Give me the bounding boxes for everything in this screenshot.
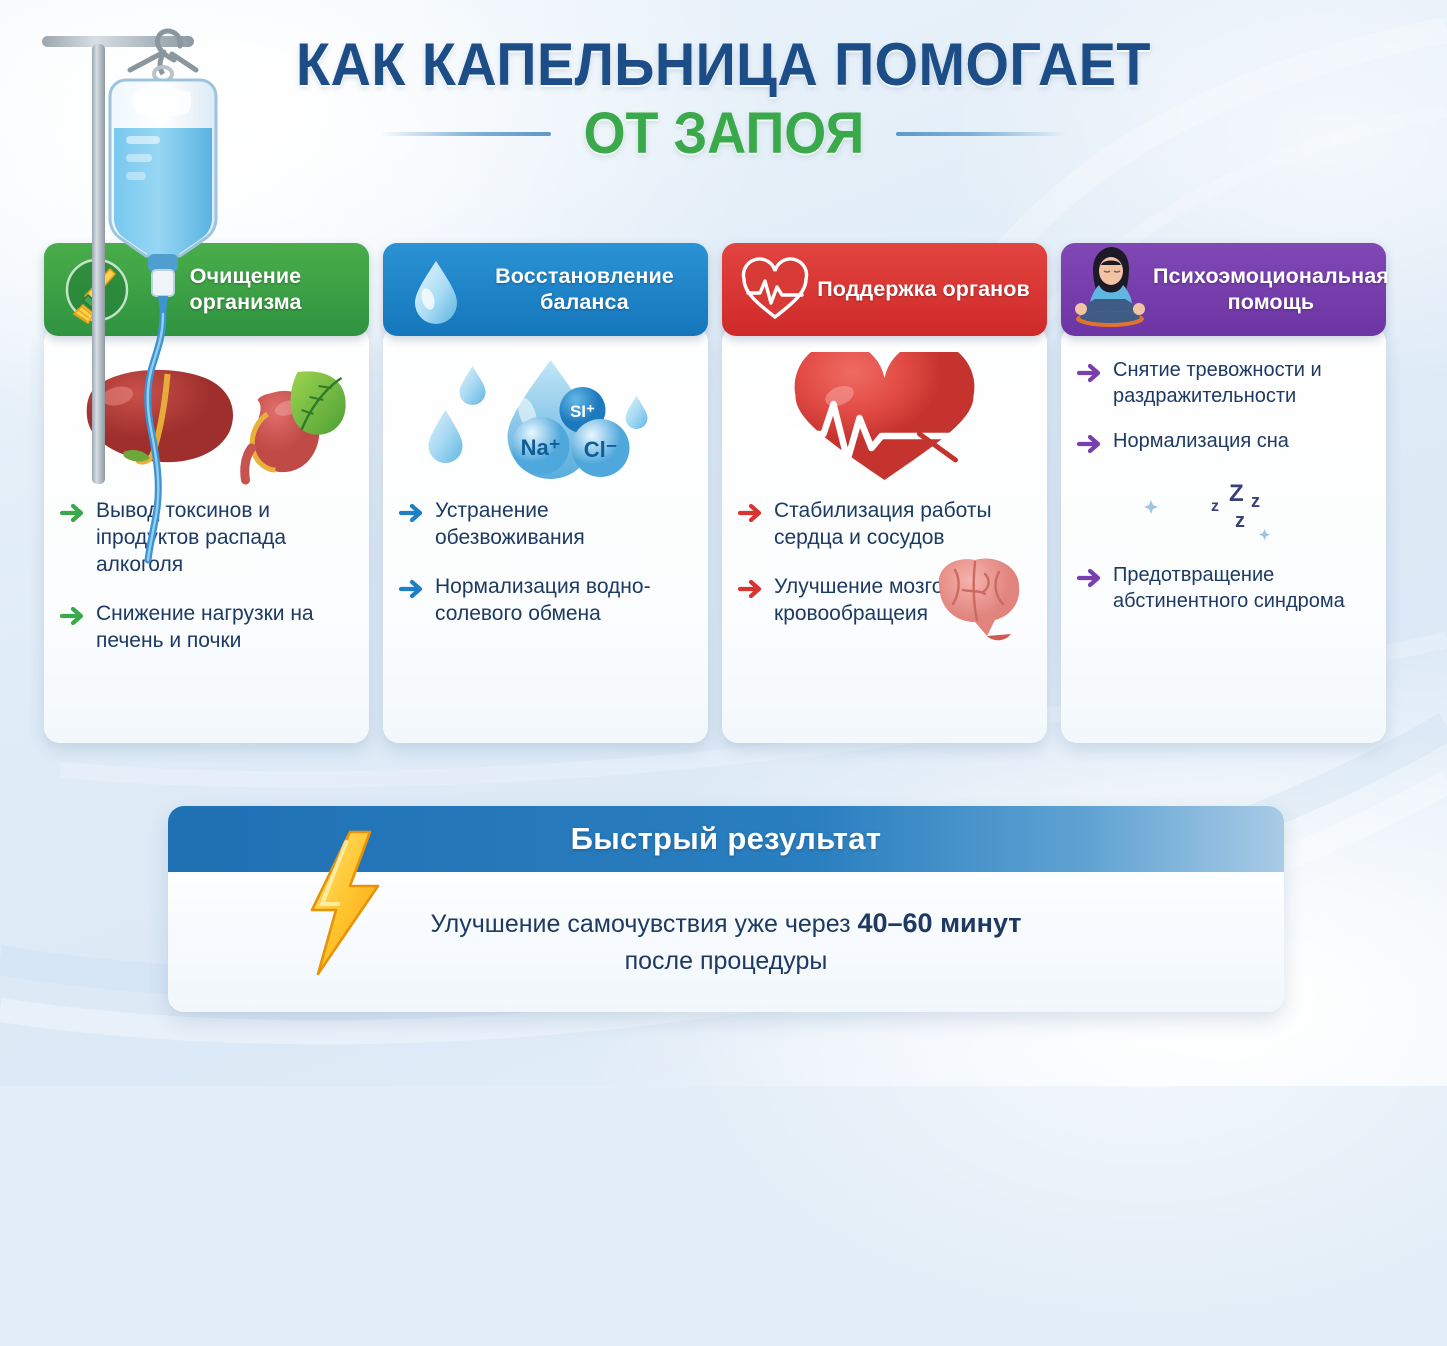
arrow-right-icon (1077, 431, 1103, 457)
lightning-bolt-icon (296, 828, 388, 978)
card-body-balance: SI⁺ Na⁺ Cl⁻ Устранение обезвоживания (383, 326, 708, 743)
svg-text:Z: Z (1229, 480, 1244, 507)
svg-text:SI⁺: SI⁺ (570, 402, 595, 421)
heart-pulse-icon (736, 251, 814, 329)
title-line-1: КАК КАПЕЛЬНИЦА ПОМОГАЕТ (51, 34, 1397, 95)
banner-highlight: 40–60 минут (857, 908, 1021, 938)
card-title-organs: Поддержка органов (814, 277, 1033, 302)
brain-illustration (915, 550, 1035, 646)
title-line-2: ОТ ЗАПОЯ (583, 105, 864, 163)
meditating-person-icon (1075, 251, 1153, 329)
card-title-psycho: Психоэмоциональная помощь (1153, 264, 1389, 315)
bullet-text: Снижение нагрузки на печень и почки (96, 601, 353, 655)
list-item: Устранение обезвоживания (399, 498, 692, 552)
svg-text:z: z (1235, 510, 1245, 532)
title-rule-left (381, 132, 551, 136)
arrow-right-icon (399, 576, 425, 602)
arrow-right-icon (738, 500, 764, 526)
svg-text:z: z (1211, 498, 1219, 515)
list-item: Предотвращение абстинентного синдрома (1077, 563, 1370, 614)
svg-text:Cl⁻: Cl⁻ (584, 437, 618, 462)
list-item: Нормализация водно-солевого обмена (399, 574, 692, 628)
list-item: Нормализация сна (1077, 429, 1370, 457)
card-header-psycho: Психоэмоциональная помощь (1061, 243, 1386, 336)
arrow-right-icon (60, 603, 86, 629)
bullet-text: Устранение обезвоживания (435, 498, 692, 552)
banner-line-1: Улучшение самочувствия уже через 40–60 м… (430, 907, 1021, 941)
banner-title: Быстрый результат (571, 821, 882, 857)
banner-line-2: после процедуры (625, 945, 828, 978)
list-item: Стабилизация работы сердца и сосудов (738, 498, 1031, 552)
card-title-balance: Восстановление баланса (475, 264, 694, 315)
bullet-text: Предотвращение абстинентного синдрома (1113, 563, 1370, 614)
bullet-text: Снятие тревожности и раздражительности (1113, 358, 1370, 409)
water-drop-icon (397, 251, 475, 329)
heart-ecg-illustration (738, 352, 1031, 492)
page-title: КАК КАПЕЛЬНИЦА ПОМОГАЕТ ОТ ЗАПОЯ (0, 34, 1447, 163)
card-organs[interactable]: Поддержка органов (722, 243, 1047, 743)
electrolyte-drops-illustration: SI⁺ Na⁺ Cl⁻ (399, 352, 692, 492)
bullet-text: Нормализация сна (1113, 429, 1289, 455)
bullet-text: Нормализация водно-солевого обмена (435, 574, 692, 628)
banner-text-before: Улучшение самочувствия уже через (430, 910, 857, 938)
card-balance[interactable]: Восстановление баланса (383, 243, 708, 743)
arrow-right-icon (738, 576, 764, 602)
moon-sleep-illustration: Z z z z (1077, 477, 1370, 549)
card-body-organs: Стабилизация работы сердца и сосудов Улу… (722, 326, 1047, 743)
card-body-psycho: Снятие тревожности и раздражительности Н… (1061, 326, 1386, 743)
arrow-right-icon (1077, 565, 1103, 591)
list-item: Снижение нагрузки на печень и почки (60, 601, 353, 655)
card-header-organs: Поддержка органов (722, 243, 1047, 336)
arrow-right-icon (399, 500, 425, 526)
card-header-balance: Восстановление баланса (383, 243, 708, 336)
arrow-right-icon (1077, 360, 1103, 386)
list-item: Снятие тревожности и раздражительности (1077, 358, 1370, 409)
title-rule-right (896, 132, 1066, 136)
bullet-text: Стабилизация работы сердца и сосудов (774, 498, 1031, 552)
card-psycho[interactable]: Психоэмоциональная помощь Снятие тревожн… (1061, 243, 1386, 743)
fast-result-banner: Быстрый результат Улучшение самочувствия… (168, 806, 1284, 1012)
bullet-list-organs: Стабилизация работы сердца и сосудов Улу… (738, 498, 1031, 628)
bullet-list-psycho: Снятие тревожности и раздражительности Н… (1077, 358, 1370, 614)
svg-text:z: z (1251, 491, 1260, 511)
bullet-list-balance: Устранение обезвоживания Нормализация во… (399, 498, 692, 628)
svg-text:Na⁺: Na⁺ (521, 435, 561, 460)
